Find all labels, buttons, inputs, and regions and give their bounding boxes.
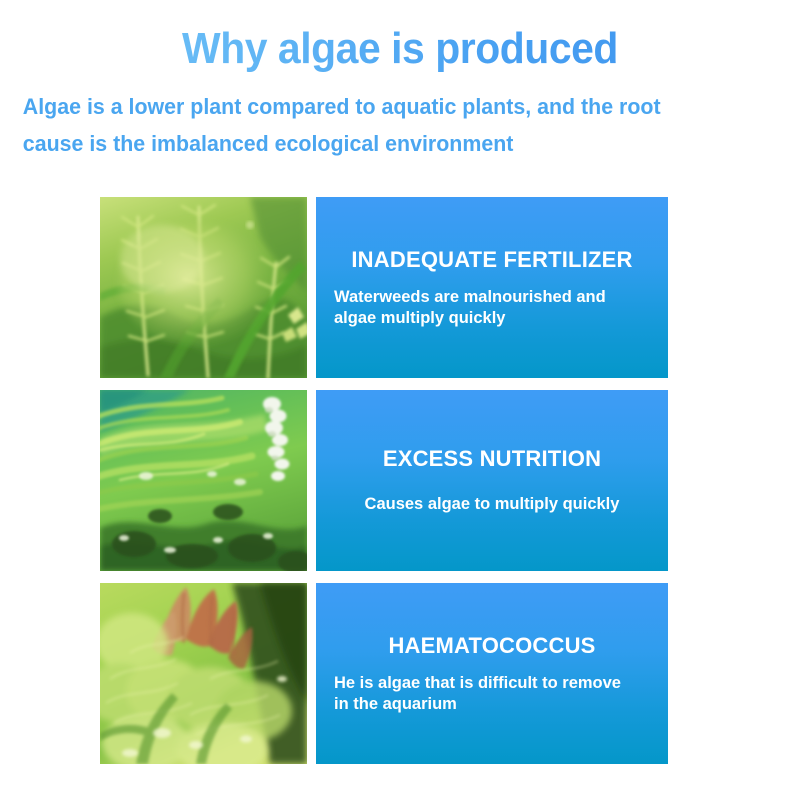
card-body-line-2: algae multiply quickly (334, 309, 505, 327)
card-haematococcus: HAEMATOCOCCUS He is algae that is diffic… (100, 583, 668, 764)
page-subtitle: Algae is a lower plant compared to aquat… (0, 74, 760, 162)
card-body-line-1: Causes algae to multiply quickly (365, 495, 620, 513)
card-body: Causes algae to multiply quickly (334, 494, 650, 515)
header: Why algae is produced Algae is a lower p… (0, 0, 800, 162)
card-title: EXCESS NUTRITION (334, 446, 650, 472)
page-subtitle-line-2: cause is the imbalanced ecological envir… (23, 125, 737, 162)
algae-mat-illustration (100, 390, 307, 571)
card-panel-haematococcus: HAEMATOCOCCUS He is algae that is diffic… (316, 583, 668, 764)
waterweeds-illustration (100, 197, 307, 378)
card-body-line-2: in the aquarium (334, 695, 457, 713)
card-body: He is algae that is difficult to remove … (334, 673, 650, 715)
card-panel-excess-nutrition: EXCESS NUTRITION Causes algae to multipl… (316, 390, 668, 571)
haematococcus-illustration (100, 583, 307, 764)
cards-list: INADEQUATE FERTILIZER Waterweeds are mal… (100, 197, 668, 764)
card-panel-inadequate-fertilizer: INADEQUATE FERTILIZER Waterweeds are mal… (316, 197, 668, 378)
card-body-line-1: Waterweeds are malnourished and (334, 288, 606, 306)
photo-haematococcus-algae (100, 583, 307, 764)
infographic-page: Why algae is produced Algae is a lower p… (0, 0, 800, 800)
card-body: Waterweeds are malnourished and algae mu… (334, 287, 650, 329)
card-body-line-1: He is algae that is difficult to remove (334, 674, 621, 692)
card-title: INADEQUATE FERTILIZER (334, 247, 650, 273)
card-inadequate-fertilizer: INADEQUATE FERTILIZER Waterweeds are mal… (100, 197, 668, 378)
page-title: Why algae is produced (28, 0, 772, 74)
card-excess-nutrition: EXCESS NUTRITION Causes algae to multipl… (100, 390, 668, 571)
card-title: HAEMATOCOCCUS (334, 633, 650, 659)
page-subtitle-line-1: Algae is a lower plant compared to aquat… (23, 88, 737, 125)
photo-filamentous-algae-mat (100, 390, 307, 571)
photo-waterweeds-underwater (100, 197, 307, 378)
